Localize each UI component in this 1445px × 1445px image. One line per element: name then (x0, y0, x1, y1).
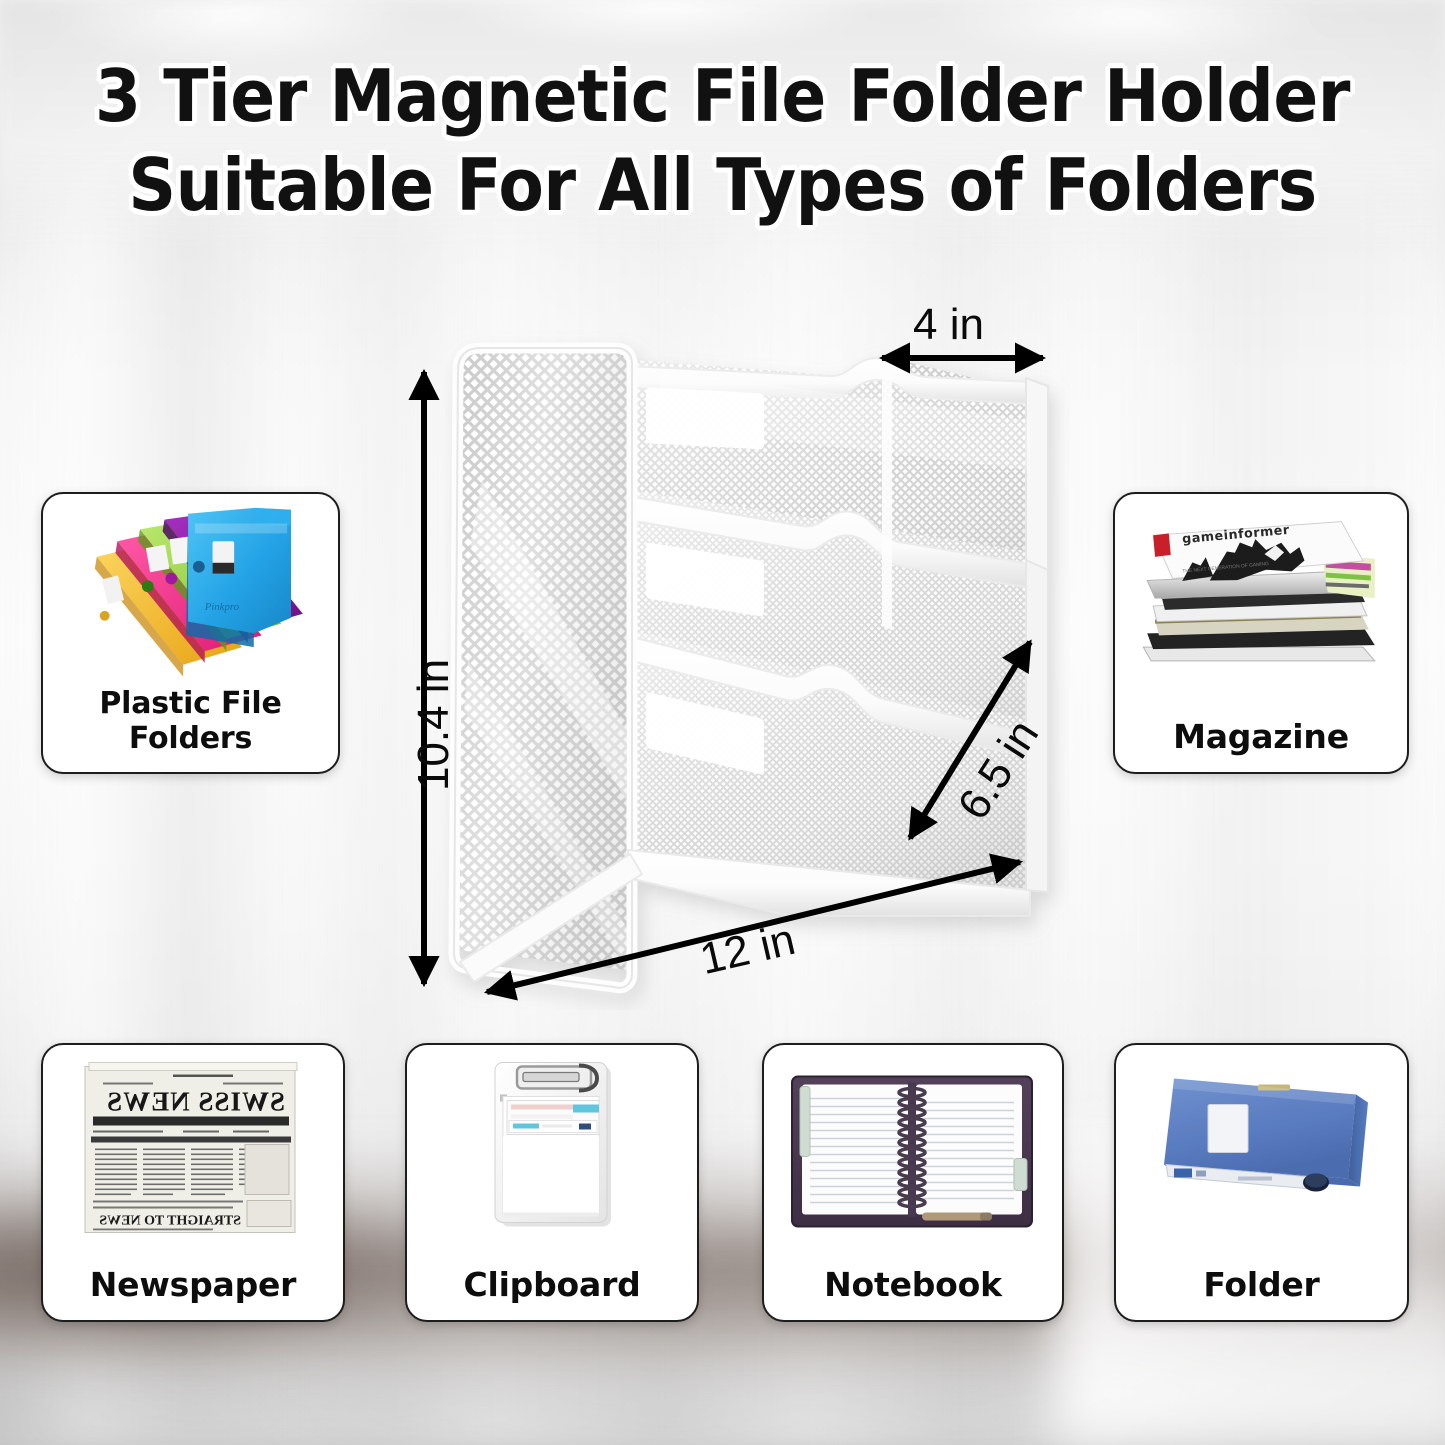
card-label-newspaper: Newspaper (43, 1265, 343, 1304)
folder-fan: Pinkpro (95, 508, 303, 677)
page-title: 3 Tier Magnetic File Folder Holder Suita… (0, 52, 1445, 231)
box-file-folder (1164, 1079, 1368, 1192)
notebook (792, 1077, 1032, 1227)
svg-text:SWISS NEWS: SWISS NEWS (106, 1087, 285, 1117)
svg-text:STRAIGHT TO NEWS: STRAIGHT TO NEWS (99, 1214, 241, 1229)
card-label-folder: Folder (1116, 1265, 1407, 1304)
folder-blue: Pinkpro (186, 508, 291, 647)
card-label-magazine: Magazine (1115, 717, 1407, 756)
product-body (454, 348, 1048, 988)
callout-card-folder[interactable]: Folder (1114, 1043, 1409, 1322)
clipboard (495, 1063, 611, 1227)
art-plastic-file-folders: Pinkpro (43, 500, 338, 706)
product-image-file-holder (430, 330, 1070, 1010)
card-label-notebook: Notebook (764, 1265, 1062, 1304)
callout-card-clipboard[interactable]: Clipboard (405, 1043, 699, 1322)
art-folded-newspaper: SWISS NEWS (43, 1051, 343, 1254)
title-line-2: Suitable For All Types of Folders (58, 141, 1387, 230)
callout-card-newspaper[interactable]: SWISS NEWS (41, 1043, 345, 1322)
newspaper: SWISS NEWS (85, 1063, 297, 1233)
art-blue-box-folder (1116, 1051, 1407, 1254)
magazine-pile: gameinformer THE NEXT GENERATION OF GAMI… (1143, 522, 1375, 661)
art-clipboard (407, 1051, 697, 1254)
title-line-1: 3 Tier Magnetic File Folder Holder (58, 52, 1387, 141)
art-open-notebook (764, 1051, 1062, 1254)
dimension-label-height: 10.4 in (409, 659, 459, 791)
svg-text:Pinkpro: Pinkpro (204, 601, 240, 613)
callout-card-plastic-file-folders[interactable]: Pinkpro Plastic File Folders (41, 492, 340, 774)
dimension-label-width-top: 4 in (913, 300, 984, 350)
callout-card-magazine[interactable]: gameinformer THE NEXT GENERATION OF GAMI… (1113, 492, 1409, 774)
card-label-plastic-file-folders: Plastic File Folders (43, 686, 338, 756)
card-label-clipboard: Clipboard (407, 1265, 697, 1304)
callout-card-notebook[interactable]: Notebook (762, 1043, 1064, 1322)
art-magazine-stack: gameinformer THE NEXT GENERATION OF GAMI… (1115, 500, 1407, 706)
infographic-canvas: 3 Tier Magnetic File Folder Holder Suita… (0, 0, 1445, 1445)
